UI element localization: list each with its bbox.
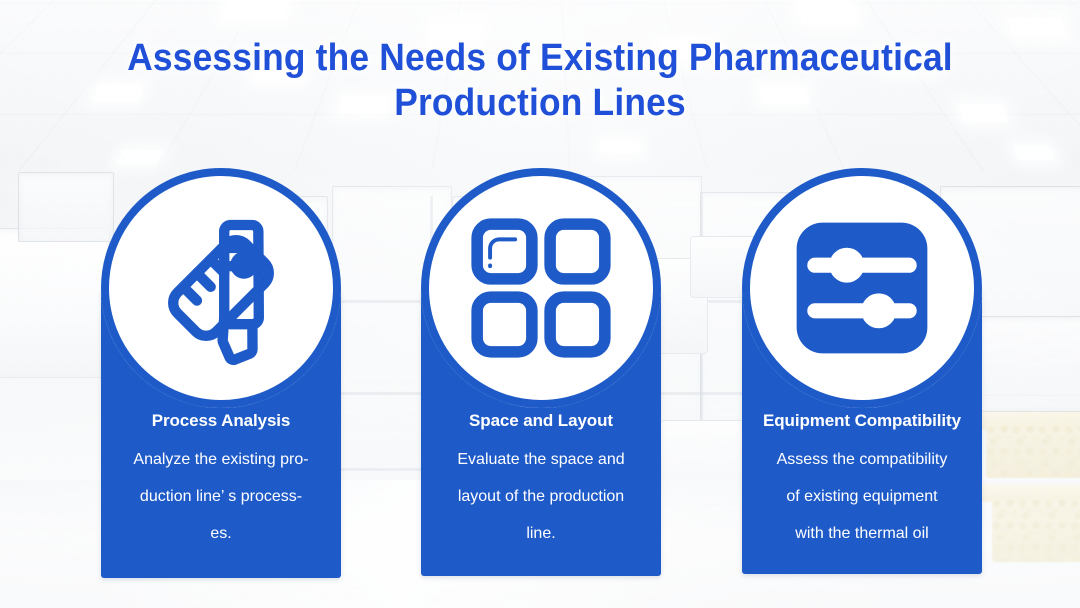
settings-sliders-icon [742,168,982,408]
slide: Assessing the Needs of Existing Pharmace… [0,0,1080,608]
card-body-text: Analyze the existing pro- duction line’ … [101,441,341,552]
ruler-pencil-icon [101,168,341,408]
card-body-text: Evaluate the space and layout of the pro… [421,441,661,552]
card-heading: Equipment Compatibility [742,411,982,431]
card-heading: Process Analysis [101,411,341,431]
layout-grid-icon [421,168,661,408]
card-heading: Space and Layout [421,411,661,431]
page-title: Assessing the Needs of Existing Pharmace… [38,36,1042,126]
card-body-text: Assess the compatibility of existing equ… [742,441,982,552]
